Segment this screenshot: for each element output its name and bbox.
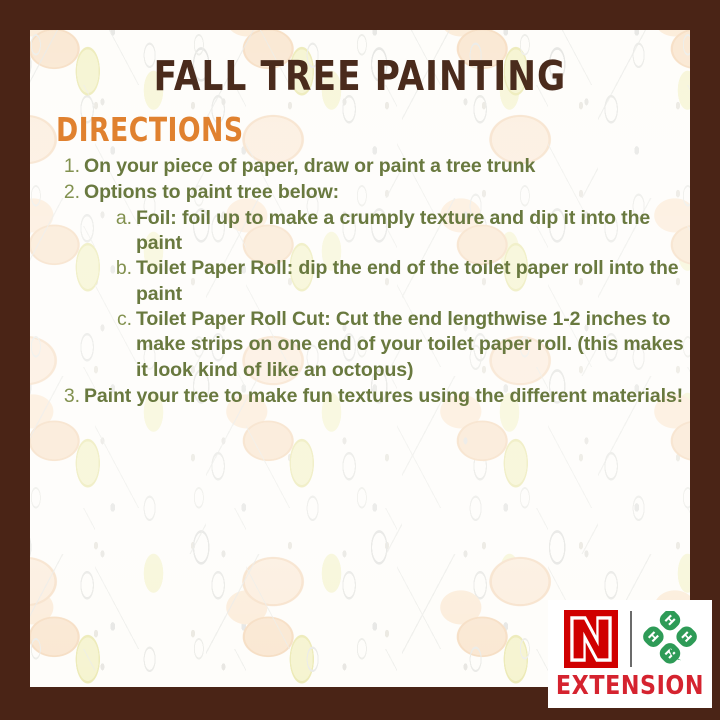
poster-card: FALL TREE PAINTING DIRECTIONS 1. On your… xyxy=(30,30,690,687)
list-marker: 3. xyxy=(54,384,80,409)
directions-list: 1. On your piece of paper, draw or paint… xyxy=(54,154,690,409)
four-h-clover-icon: H H H H xyxy=(642,611,698,667)
directions-sublist: a. Foil: foil up to make a crumply textu… xyxy=(110,206,690,383)
extension-wordmark: EXTENSION xyxy=(556,673,704,699)
list-item: 1. On your piece of paper, draw or paint… xyxy=(54,154,690,179)
nebraska-n-icon xyxy=(562,608,620,670)
list-marker: c. xyxy=(110,307,132,332)
list-item: a. Foil: foil up to make a crumply textu… xyxy=(110,206,690,257)
list-item-text: Foil: foil up to make a crumply texture … xyxy=(136,207,650,254)
list-marker: a. xyxy=(110,206,132,231)
list-marker: b. xyxy=(110,256,132,281)
list-item-text: On your piece of paper, draw or paint a … xyxy=(84,155,535,177)
page-title: FALL TREE PAINTING xyxy=(53,56,667,97)
list-item-text: Options to paint tree below: xyxy=(84,181,339,203)
logo-lockup: H H H H EXTENSION xyxy=(548,600,712,708)
logo-row: H H H H xyxy=(562,606,698,672)
list-item: 2. Options to paint tree below: a. Foil:… xyxy=(54,180,690,383)
logo-divider xyxy=(630,611,632,667)
list-marker: 2. xyxy=(54,180,80,205)
list-item-text: Paint your tree to make fun textures usi… xyxy=(84,385,683,407)
list-item-text: Toilet Paper Roll Cut: Cut the end lengt… xyxy=(136,308,684,381)
list-item: c. Toilet Paper Roll Cut: Cut the end le… xyxy=(110,307,690,383)
poster-frame: FALL TREE PAINTING DIRECTIONS 1. On your… xyxy=(0,0,720,720)
directions-heading: DIRECTIONS xyxy=(56,113,627,146)
list-item: 3. Paint your tree to make fun textures … xyxy=(54,384,690,409)
poster-content: FALL TREE PAINTING DIRECTIONS 1. On your… xyxy=(30,30,690,687)
list-marker: 1. xyxy=(54,154,80,179)
list-item: b. Toilet Paper Roll: dip the end of the… xyxy=(110,256,690,307)
list-item-text: Toilet Paper Roll: dip the end of the to… xyxy=(136,257,679,304)
